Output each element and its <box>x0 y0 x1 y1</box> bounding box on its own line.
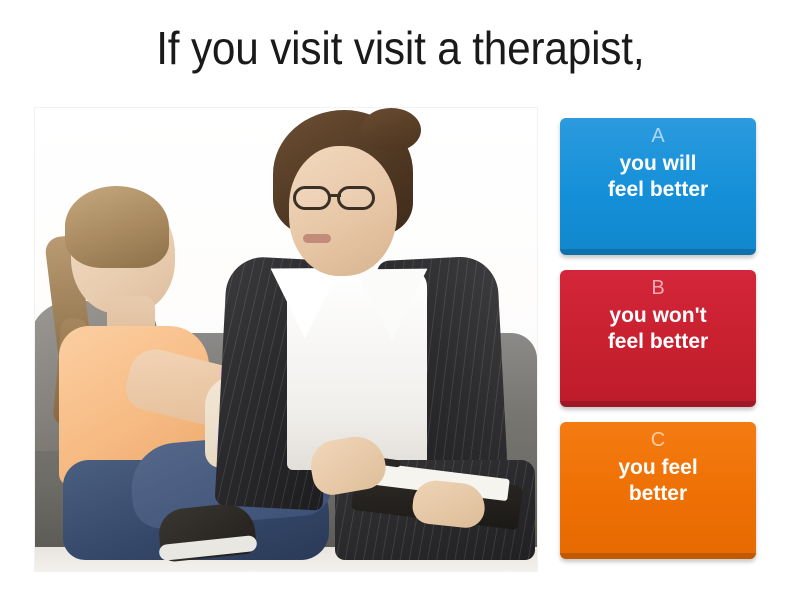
answer-letter-c: C <box>568 428 748 453</box>
answer-text-a: you will feel better <box>568 151 748 202</box>
glasses-bridge <box>329 194 341 197</box>
answer-text-b: you won't feel better <box>568 303 748 354</box>
question-area: If you visit visit a therapist, <box>0 0 800 108</box>
question-image <box>35 108 537 571</box>
therapy-session-photo <box>35 108 537 571</box>
answer-text-c: you feel better <box>568 455 748 506</box>
therapist-hair-bun <box>361 108 421 152</box>
answer-letter-b: B <box>568 276 748 301</box>
page-title: If you visit visit a therapist, <box>156 0 644 78</box>
therapist-face <box>289 146 397 276</box>
answer-option-b[interactable]: B you won't feel better <box>560 270 756 407</box>
quiz-slide: If you visit visit a therapist, <box>0 0 800 600</box>
glasses-icon <box>337 186 375 210</box>
glasses-icon <box>293 186 331 210</box>
answer-options-list: A you will feel better B you won't feel … <box>560 118 756 574</box>
answer-option-c[interactable]: C you feel better <box>560 422 756 559</box>
answer-letter-a: A <box>568 124 748 149</box>
girl-hair <box>65 186 169 268</box>
therapist-mouth <box>303 234 331 243</box>
answer-option-a[interactable]: A you will feel better <box>560 118 756 255</box>
